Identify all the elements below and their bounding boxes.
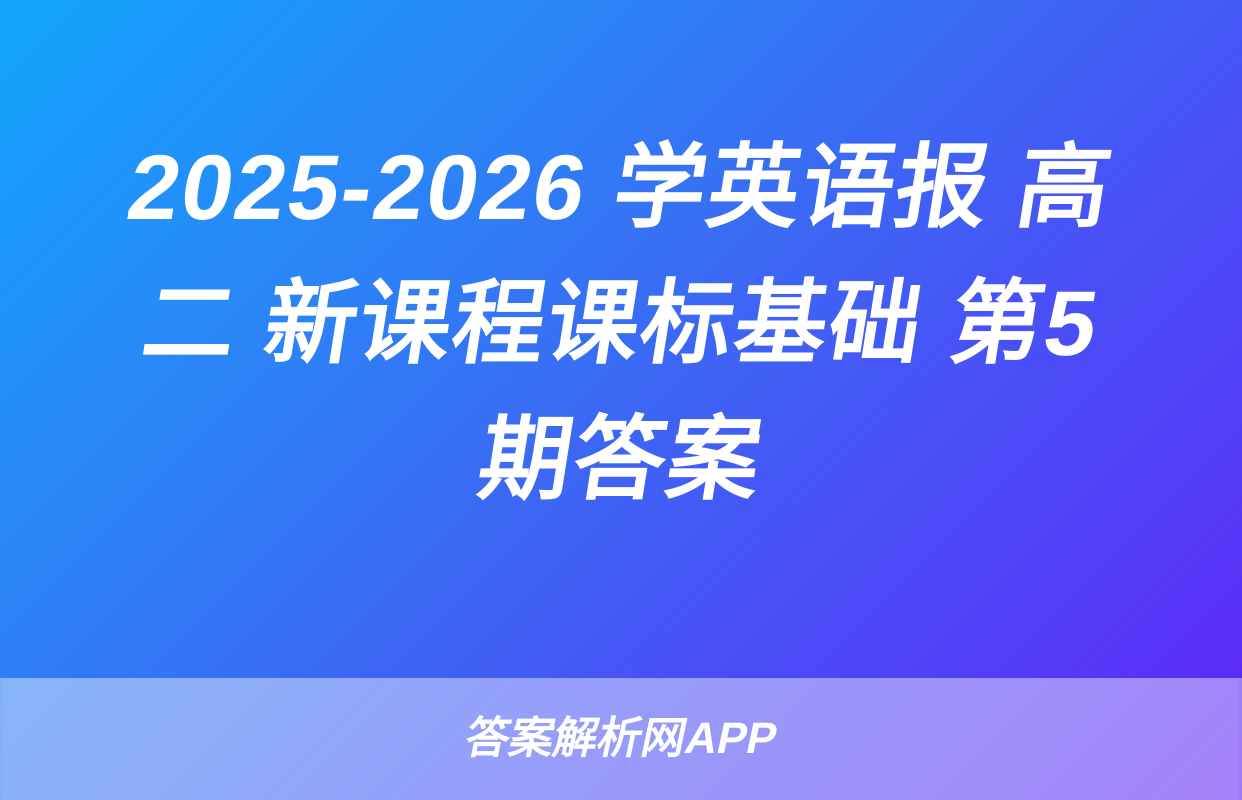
headline-line-2: 二 新课程课标基础 第5 [133, 256, 1109, 392]
headline-line-1: 2025-2026 学英语报 高 [119, 120, 1124, 256]
headline-block: 2025-2026 学英语报 高 二 新课程课标基础 第5 期答案 [0, 0, 1242, 678]
answer-poster-card: 2025-2026 学英语报 高 二 新课程课标基础 第5 期答案 答案解析网A… [0, 0, 1242, 800]
headline-line-3: 期答案 [469, 392, 773, 528]
watermark-bar: 答案解析网APP [0, 678, 1242, 800]
app-watermark-label: 答案解析网APP [461, 717, 781, 761]
watermark-bar-inner: 答案解析网APP [3, 678, 1239, 800]
